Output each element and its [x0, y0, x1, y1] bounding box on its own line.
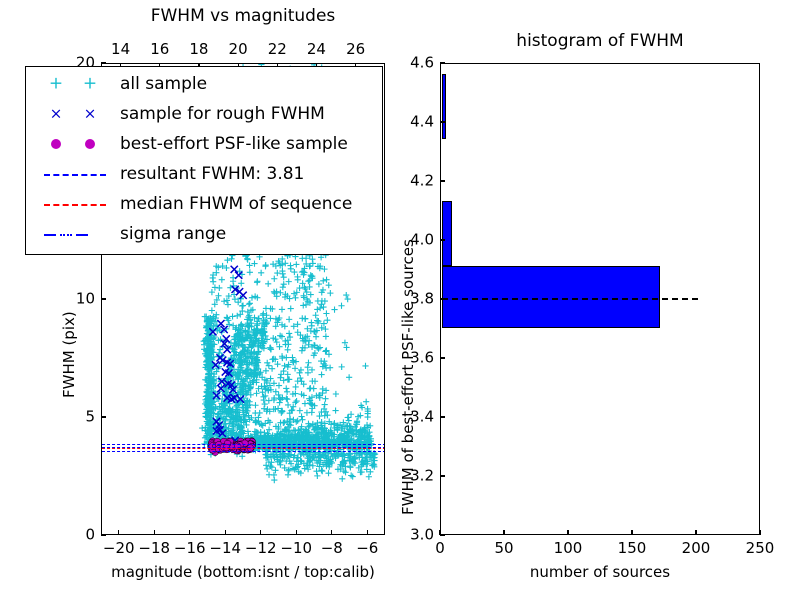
dashdot-line-icon-c [76, 234, 88, 236]
histogram-plot-area [441, 64, 759, 534]
legend-label: sample for rough FWHM [120, 104, 325, 124]
x-tick-label-top: 18 [189, 42, 208, 57]
sigma-range-upper-line [102, 444, 384, 445]
y-tick-mark [101, 62, 106, 63]
legend-item[interactable]: median FHWM of sequence [34, 189, 382, 219]
hist-y-tick-label: 3.2 [392, 469, 434, 484]
x-tick-label: −10 [280, 541, 312, 556]
hist-x-tick-mark [759, 530, 760, 535]
legend-sample: ++ [34, 69, 120, 99]
x-tick-mark [154, 530, 155, 535]
x-tick-mark [260, 530, 261, 535]
hist-x-tick-label: 0 [435, 541, 445, 556]
y-tick-label: 5 [63, 410, 95, 425]
plus-icon: + [83, 76, 97, 93]
figure-canvas: FWHM vs magnitudes magnitude (bottom:isn… [0, 0, 800, 600]
plus-icon: + [49, 76, 63, 93]
legend-label: all sample [120, 74, 207, 94]
legend-label: best-effort PSF-like sample [120, 134, 348, 154]
legend-item[interactable]: sigma range [34, 219, 382, 249]
legend-sample: ×× [34, 99, 120, 129]
circle-icon [51, 139, 61, 149]
hist-y-tick-mark [440, 475, 445, 476]
hist-y-tick-mark [440, 416, 445, 417]
x-tick-label: −8 [321, 541, 343, 556]
hist-x-tick-mark [567, 530, 568, 535]
circle-icon [85, 139, 95, 149]
hist-y-tick-label: 3.4 [392, 410, 434, 425]
histogram-median-line [442, 298, 698, 300]
legend-label: resultant FWHM: 3.81 [120, 164, 304, 184]
left-panel-ylabel: FWHM (pix) [62, 311, 77, 398]
hist-y-tick-mark [440, 298, 445, 299]
x-tick-label-top: 22 [268, 42, 287, 57]
x-tick-mark [225, 530, 226, 535]
x-tick-label: −12 [245, 541, 277, 556]
x-tick-label: −20 [103, 541, 135, 556]
legend-label: median FHWM of sequence [120, 194, 352, 214]
legend-sample [34, 189, 120, 219]
legend-item[interactable]: ××sample for rough FWHM [34, 99, 382, 129]
x-tick-mark [296, 530, 297, 535]
sigma-range-lower-line [102, 451, 384, 452]
hist-x-tick-label: 150 [618, 541, 647, 556]
hist-y-tick-label: 4.2 [392, 174, 434, 189]
histogram-bar [442, 74, 446, 139]
x-tick-label: −14 [209, 541, 241, 556]
hist-x-tick-label: 50 [494, 541, 513, 556]
cross-icon: × [84, 107, 97, 122]
x-tick-label-top: 24 [307, 42, 326, 57]
hist-x-tick-mark [503, 530, 504, 535]
x-tick-label-top: 14 [111, 42, 130, 57]
hist-y-tick-mark [440, 357, 445, 358]
legend-sample [34, 159, 120, 189]
x-tick-label: −6 [356, 541, 378, 556]
right-panel-title: histogram of FWHM [516, 33, 683, 50]
hist-y-tick-label: 3.0 [392, 528, 434, 543]
x-tick-mark [189, 530, 190, 535]
y-tick-mark [101, 298, 106, 299]
hist-x-tick-label: 250 [746, 541, 775, 556]
hist-y-tick-mark [440, 180, 445, 181]
hist-y-tick-mark [440, 534, 445, 535]
hist-y-tick-label: 3.8 [392, 292, 434, 307]
hist-x-tick-mark [631, 530, 632, 535]
y-tick-label: 0 [63, 528, 95, 543]
legend-label: sigma range [120, 224, 226, 244]
legend-item[interactable]: best-effort PSF-like sample [34, 129, 382, 159]
x-tick-label: −16 [174, 541, 206, 556]
hist-y-tick-label: 4.6 [392, 56, 434, 71]
x-tick-mark [331, 530, 332, 535]
dashed-line-icon [44, 204, 106, 206]
hist-y-tick-label: 4.0 [392, 233, 434, 248]
x-tick-label-top: 26 [346, 42, 365, 57]
legend-item[interactable]: ++all sample [34, 69, 382, 99]
legend-item[interactable]: resultant FWHM: 3.81 [34, 159, 382, 189]
y-tick-mark [101, 534, 106, 535]
hist-y-tick-mark [440, 239, 445, 240]
dashdot-line-icon-b [60, 234, 72, 236]
x-tick-mark [118, 530, 119, 535]
cross-icon: × [50, 107, 63, 122]
dashdot-line-icon-a [44, 234, 56, 236]
hist-y-tick-label: 3.6 [392, 351, 434, 366]
hist-x-tick-mark [695, 530, 696, 535]
y-tick-label: 10 [63, 292, 95, 307]
legend[interactable]: ++all sample××sample for rough FWHMbest-… [25, 66, 383, 255]
hist-x-tick-label: 100 [554, 541, 583, 556]
x-tick-label-top: 16 [150, 42, 169, 57]
legend-sample [34, 219, 120, 249]
x-tick-label-top: 20 [229, 42, 248, 57]
hist-y-tick-label: 4.4 [392, 115, 434, 130]
y-tick-mark [101, 416, 106, 417]
histogram-bar [442, 266, 660, 328]
hist-y-tick-mark [440, 62, 445, 63]
dashed-line-icon [44, 174, 106, 176]
left-panel-xlabel: magnitude (bottom:isnt / top:calib) [111, 565, 375, 580]
x-tick-label: −18 [138, 541, 170, 556]
x-tick-mark [367, 530, 368, 535]
hist-y-tick-mark [440, 121, 445, 122]
hist-x-tick-label: 200 [682, 541, 711, 556]
left-panel-title: FWHM vs magnitudes [151, 8, 336, 25]
legend-sample [34, 129, 120, 159]
histogram-bar [442, 201, 452, 266]
right-panel-xlabel: number of sources [530, 565, 670, 580]
median-fwhm-line [102, 448, 384, 449]
